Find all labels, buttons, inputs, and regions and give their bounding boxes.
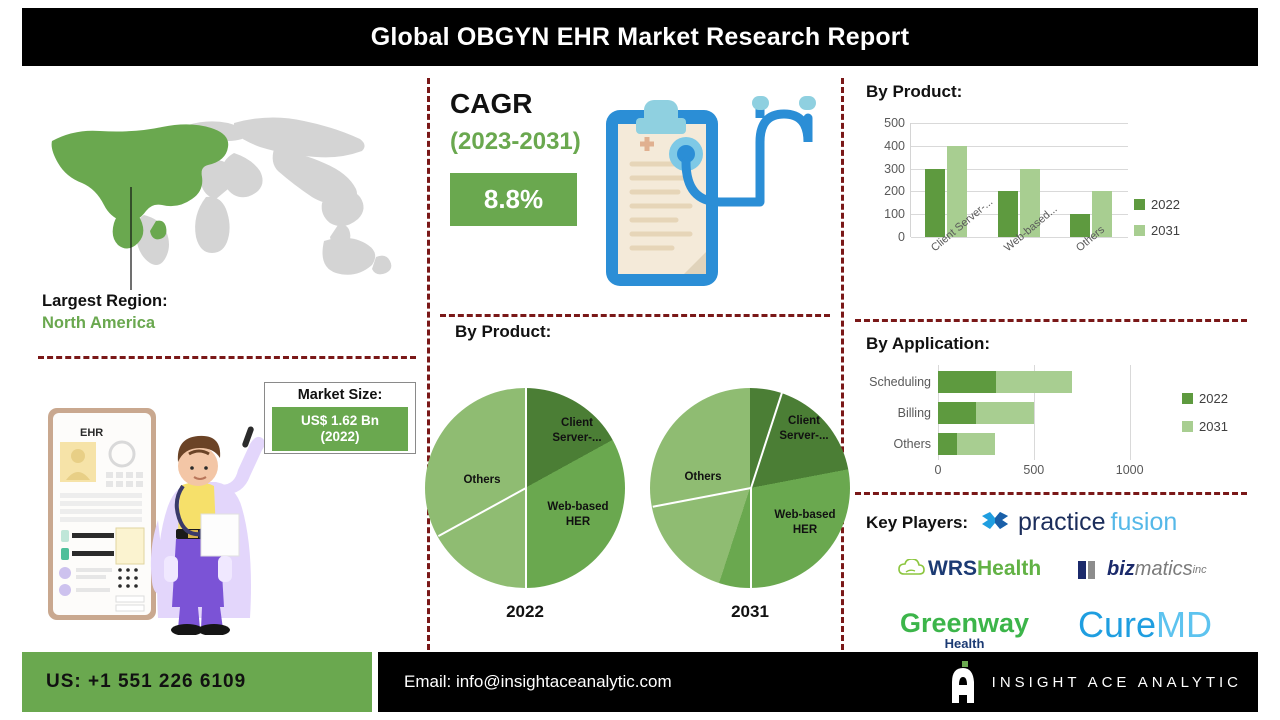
page-title: Global OBGYN EHR Market Research Report xyxy=(371,23,910,52)
category-label: Scheduling xyxy=(869,375,931,389)
right-by-product-title: By Product: xyxy=(866,82,962,102)
curemd-text-a: Cure xyxy=(1078,604,1156,646)
middle-by-product-title: By Product: xyxy=(455,322,551,342)
footer-brand: INSIGHT ACE ANALYTIC xyxy=(950,661,1242,703)
bar-row: Billing xyxy=(938,402,1168,424)
pie-chart-2022 xyxy=(425,388,625,588)
cagr-value-badge: 8.8% xyxy=(450,173,577,226)
wrs-health-text-b: Health xyxy=(977,557,1041,581)
bar-row: Others xyxy=(938,433,1168,455)
legend-item: 2022 xyxy=(1182,391,1228,406)
footer-phone-text: US: +1 551 226 6109 xyxy=(46,671,246,693)
legend-swatch xyxy=(1134,225,1145,236)
y-axis-tick: 0 xyxy=(898,230,905,244)
legend-label: 2022 xyxy=(1151,197,1180,212)
market-size-amount: US$ 1.62 Bn xyxy=(301,413,379,429)
bar-segment xyxy=(957,433,995,455)
divider-middle-horizontal xyxy=(440,314,830,317)
bizmatics-text-c: inc xyxy=(1193,564,1207,576)
x-axis-tick: 1000 xyxy=(1116,463,1144,477)
y-axis-tick: 400 xyxy=(884,139,905,153)
key-players-label: Key Players: xyxy=(866,513,968,533)
bar-segment xyxy=(996,371,1073,393)
bar-segment xyxy=(938,402,976,424)
legend: 20222031 xyxy=(1182,391,1228,447)
footer-email-text: Email: info@insightaceanalytic.com xyxy=(404,672,672,692)
bizmatics-mark xyxy=(1078,561,1104,579)
bar-segment xyxy=(976,402,1034,424)
pie-chart-2031 xyxy=(650,388,850,588)
right-by-application-title: By Application: xyxy=(866,334,990,354)
legend-label: 2031 xyxy=(1151,223,1180,238)
bar-row: Scheduling xyxy=(938,371,1168,393)
legend-label: 2022 xyxy=(1199,391,1228,406)
practice-fusion-mark xyxy=(980,510,1010,536)
practice-fusion-text-a: practice xyxy=(1018,508,1106,537)
y-axis-tick: 100 xyxy=(884,207,905,221)
category-label: Others xyxy=(893,437,931,451)
bar-segment xyxy=(938,371,996,393)
category-label: Billing xyxy=(898,406,931,420)
legend-swatch xyxy=(1182,393,1193,404)
market-size-value: US$ 1.62 Bn (2022) xyxy=(272,407,408,451)
practice-fusion-text-b: fusion xyxy=(1111,508,1178,537)
largest-region-block: Largest Region: North America xyxy=(42,292,168,333)
y-axis-tick: 500 xyxy=(884,116,905,130)
bizmatics-text-b: matics xyxy=(1135,558,1193,581)
practice-fusion-logo: practice fusion xyxy=(980,508,1177,537)
legend-swatch xyxy=(1182,421,1193,432)
market-size-label: Market Size: xyxy=(298,387,383,403)
header-bar: Global OBGYN EHR Market Research Report xyxy=(22,8,1258,66)
greenway-health-logo: Greenway Health xyxy=(900,608,1029,651)
legend-item: 2022 xyxy=(1134,197,1180,212)
market-size-year: (2022) xyxy=(320,429,359,445)
curemd-logo: Cure MD xyxy=(1078,604,1212,646)
bar xyxy=(925,169,945,237)
by-product-plot-area: 0100200300400500Client Server-...Web-bas… xyxy=(910,123,1128,237)
legend: 20222031 xyxy=(1134,197,1180,249)
greenway-text-a: Greenway xyxy=(900,608,1029,639)
x-axis-tick: 500 xyxy=(1023,463,1044,477)
wrs-health-text-a: WRS xyxy=(928,557,977,581)
wrs-health-logo: WRS Health xyxy=(898,557,1041,581)
x-axis-tick: 0 xyxy=(935,463,942,477)
curemd-text-b: MD xyxy=(1156,604,1212,646)
bar xyxy=(998,191,1018,237)
divider-right-horizontal-1 xyxy=(855,319,1247,322)
clipboard-stethoscope-icon xyxy=(600,82,835,307)
bar-segment xyxy=(938,433,957,455)
infographic-root: Global OBGYN EHR Market Research Report xyxy=(0,0,1280,720)
footer-brand-name: INSIGHT ACE ANALYTIC xyxy=(992,674,1242,691)
largest-region-label: Largest Region: xyxy=(42,292,168,311)
legend-swatch xyxy=(1134,199,1145,210)
bizmatics-logo: biz matics inc xyxy=(1078,558,1207,581)
divider-left-horizontal xyxy=(38,356,416,359)
divider-right-horizontal-2 xyxy=(855,492,1247,495)
largest-region-value: North America xyxy=(42,314,168,333)
y-axis-tick: 300 xyxy=(884,162,905,176)
cagr-title: CAGR xyxy=(450,88,532,120)
cagr-period: (2023-2031) xyxy=(450,128,581,156)
y-axis-tick: 200 xyxy=(884,184,905,198)
pie-2022-year: 2022 xyxy=(425,602,625,622)
world-map-icon xyxy=(38,105,408,295)
bizmatics-text-a: biz xyxy=(1107,558,1135,581)
greenway-text-b: Health xyxy=(945,636,985,651)
footer-phone-block: US: +1 551 226 6109 xyxy=(22,652,372,712)
legend-label: 2031 xyxy=(1199,419,1228,434)
by-product-bar-chart: 0100200300400500Client Server-...Web-bas… xyxy=(862,115,1252,305)
gridline xyxy=(911,123,1128,124)
legend-item: 2031 xyxy=(1182,419,1228,434)
by-application-bar-chart: 05001000SchedulingBillingOthers20222031 xyxy=(862,365,1252,485)
doctor-ehr-illustration: EHR xyxy=(40,390,270,635)
pie-2031-year: 2031 xyxy=(650,602,850,622)
pie-chart-2022-wrap: Client Server-... Web-based HER Others 2… xyxy=(425,388,625,622)
footer-main-block: Email: info@insightaceanalytic.com INSIG… xyxy=(378,652,1258,712)
insight-ace-a-mark-icon xyxy=(950,661,976,703)
cloud-icon xyxy=(898,559,928,579)
tablet-label: EHR xyxy=(80,427,103,439)
market-size-box: Market Size: US$ 1.62 Bn (2022) xyxy=(264,382,416,454)
pie-chart-2031-wrap: Client Server-... Web-based HER Others 2… xyxy=(650,388,850,622)
legend-item: 2031 xyxy=(1134,223,1180,238)
